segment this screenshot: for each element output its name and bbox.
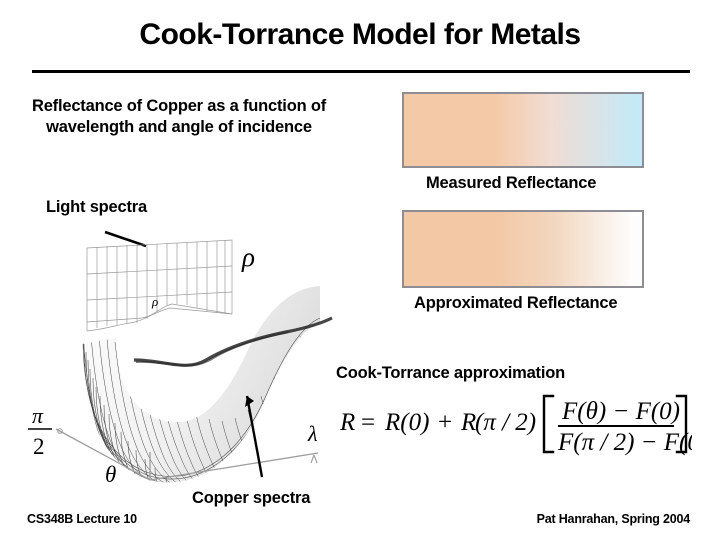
equation-lhs: R <box>340 409 355 436</box>
cook-torrance-approximation-heading: Cook-Torrance approximation <box>336 364 565 383</box>
axis-label-lambda: λ <box>307 421 318 446</box>
axis-tick-pi-over-2: π 2 <box>28 403 52 459</box>
equation-term2-arg: (π / 2) <box>475 409 536 436</box>
axis-label-rho: ρ <box>241 242 255 272</box>
slide-canvas: Cook-Torrance Model for Metals Reflectan… <box>0 0 720 540</box>
equation-equals: = <box>361 409 375 436</box>
surface-wireframe <box>60 266 340 496</box>
footer-lecture: CS348B Lecture 10 <box>27 512 137 526</box>
light-spectra-pointer <box>105 232 146 246</box>
axis-label-rho-inner: ρ <box>151 294 158 309</box>
svg-text:2: 2 <box>33 434 45 459</box>
reflectance-surface-plot: ρ ρ λ θ π 2 <box>20 226 360 496</box>
equation-term2-r: R <box>460 409 476 436</box>
measured-reflectance-label: Measured Reflectance <box>426 174 596 193</box>
equation-numerator: F(θ) − F(0) <box>561 398 680 425</box>
axis-label-theta: θ <box>105 462 116 487</box>
approximated-reflectance-swatch <box>402 210 644 288</box>
reflectance-caption: Reflectance of Copper as a function of w… <box>14 96 344 139</box>
equation-bracket-left <box>544 396 553 452</box>
page-title: Cook-Torrance Model for Metals <box>0 18 720 52</box>
svg-text:π: π <box>32 403 44 428</box>
light-spectra-label: Light spectra <box>46 198 147 217</box>
back-wall-grid <box>87 240 232 331</box>
title-divider <box>32 70 690 73</box>
approximated-reflectance-label: Approximated Reflectance <box>414 294 617 313</box>
equation-denominator: F(π / 2) − F(0) <box>557 429 692 456</box>
lambda-axis-tip <box>311 455 317 463</box>
approximated-gradient <box>404 212 642 286</box>
footer-author: Pat Hanrahan, Spring 2004 <box>537 512 690 526</box>
measured-reflectance-swatch <box>402 92 644 168</box>
measured-gradient <box>404 94 642 166</box>
cook-torrance-equation: R = R(0) + R (π / 2) F(θ) − F(0) F(π / 2… <box>340 390 692 458</box>
equation-plus: + <box>438 409 452 436</box>
equation-term1: R(0) <box>384 409 429 436</box>
